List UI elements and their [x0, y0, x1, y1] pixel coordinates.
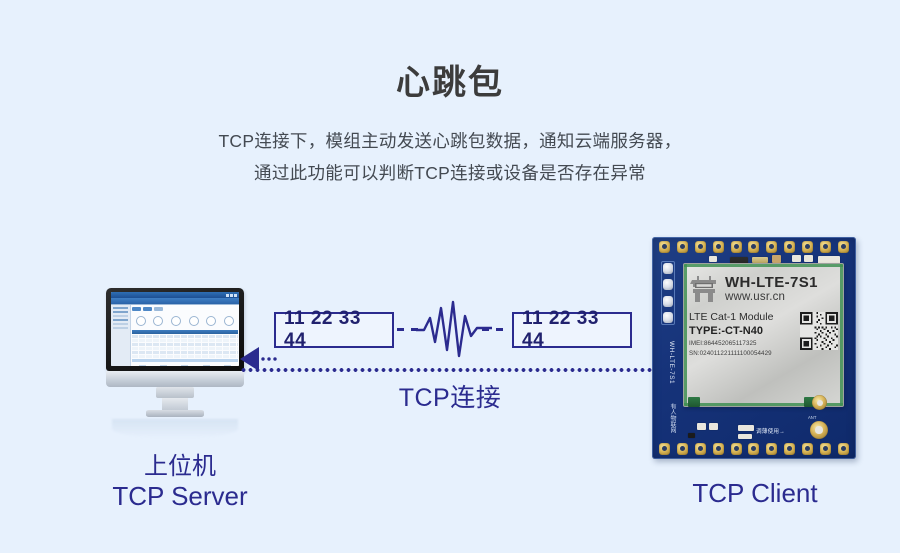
monitor-stand-top: [156, 387, 194, 398]
smd-resistor: [697, 423, 706, 430]
module-sn: SN:024011221111100054429: [689, 350, 800, 357]
shield-edge-left: [684, 264, 687, 406]
tcp-client-caption: TCP Client: [640, 478, 870, 509]
sidebar-row: [113, 315, 128, 317]
pcb-pads-left: [661, 261, 675, 325]
pcb-pad: [784, 241, 795, 253]
label-text-block: LTE Cat-1 Module TYPE:-CT-N40 IMEI:86445…: [689, 311, 800, 357]
pcb-pad: [663, 312, 673, 323]
pcb-pad: [677, 443, 688, 455]
sidebar-row: [113, 319, 128, 321]
pcb-pad: [659, 443, 670, 455]
gauge-dial: [136, 316, 146, 326]
tcp-connection-label: TCP连接: [240, 378, 660, 414]
pcb-pad: [820, 241, 831, 253]
status-cell: [160, 365, 167, 366]
pcb-pad: [663, 263, 673, 274]
toolbar-button: [143, 307, 152, 311]
tcp-flow-diagram: 11 22 33 44 11 22 33 44 TCP连接: [240, 300, 660, 420]
subtitle-line-2: 通过此功能可以判断TCP连接或设备是否存在异常: [0, 157, 900, 189]
sidebar-row: [113, 323, 128, 325]
table-row: [132, 347, 238, 350]
window-close-icon: [234, 294, 237, 297]
sidebar-row: [113, 311, 128, 313]
table-row-selected: [132, 359, 238, 362]
toolbar-button: [154, 307, 163, 311]
app-main-panel: [131, 305, 239, 366]
pcb-pad: [695, 443, 706, 455]
tcp-server-caption: 上位机 TCP Server: [60, 452, 300, 513]
brand-text: WH-LTE-7S1 www.usr.cn: [725, 275, 818, 303]
header: 心跳包 TCP连接下，模组主动发送心跳包数据，通知云端服务器， 通过此功能可以判…: [0, 0, 900, 189]
pcb-pad: [820, 443, 831, 455]
module-shield-label: WH-LTE-7S1 www.usr.cn LTE Cat-1 Module T…: [683, 263, 844, 407]
sidebar-row: [113, 327, 128, 329]
monitor-stand-column: [162, 398, 188, 410]
table-row: [132, 355, 238, 358]
pcb-pad: [731, 241, 742, 253]
pcb-pad: [766, 443, 777, 455]
pcb-pad: [748, 241, 759, 253]
module-imei: IMEI:864452065117325: [689, 340, 800, 347]
packet-box-right: 11 22 33 44: [512, 312, 632, 348]
pcb-silkscreen-brand-cn: 有人物联网: [668, 403, 677, 433]
pcb-pads-bottom: [659, 443, 849, 455]
dotted-connection-line-icon: [240, 368, 660, 372]
subtitle-line-1: TCP连接下，模组主动发送心跳包数据，通知云端服务器，: [0, 125, 900, 157]
data-grid-header: [132, 330, 238, 334]
status-cell: [224, 365, 231, 366]
packet-box-left: 11 22 33 44: [274, 312, 394, 348]
window-maximize-icon: [230, 294, 233, 297]
app-sidebar: [111, 305, 131, 366]
pcb-pad: [713, 241, 724, 253]
pcb-pad: [659, 241, 670, 253]
tcp-server-caption-en: TCP Server: [60, 481, 300, 513]
pcb-pad: [802, 443, 813, 455]
shield-label-content: WH-LTE-7S1 www.usr.cn LTE Cat-1 Module T…: [689, 269, 838, 401]
pcb-pad: [731, 443, 742, 455]
table-row: [132, 335, 238, 338]
smd-resistor: [709, 423, 718, 430]
smd-resistor: [804, 255, 813, 262]
gauge-row: [132, 313, 238, 329]
pcb-silkscreen-note-cn: 调薄使用→: [756, 427, 785, 435]
monitor-chin: [106, 371, 244, 387]
monitor-screen: [111, 292, 239, 366]
smd-resistor: [738, 434, 752, 439]
qr-code-icon: [800, 312, 838, 350]
gauge-dial: [206, 316, 216, 326]
smd-capacitor: [688, 433, 695, 438]
status-cell: [139, 365, 146, 366]
antenna-connector-icon: [810, 421, 828, 439]
gauge-dial: [189, 316, 199, 326]
page-title: 心跳包: [0, 62, 900, 105]
pcb-pads-top: [659, 241, 849, 253]
pcb-pad: [838, 241, 849, 253]
module-model-name: WH-LTE-7S1: [725, 275, 818, 291]
pcb-pad: [663, 279, 673, 290]
heartbeat-waveform-icon: [416, 298, 492, 362]
pcb-pad: [748, 443, 759, 455]
module-model-code: TYPE:-CT-N40: [689, 325, 800, 337]
pcb-pad: [838, 443, 849, 455]
data-grid-rows: [132, 335, 238, 362]
pcb-pad: [663, 296, 673, 307]
sidebar-row: [113, 307, 128, 309]
app-toolbar: [132, 307, 238, 311]
page-subtitle: TCP连接下，模组主动发送心跳包数据，通知云端服务器， 通过此功能可以判断TCP…: [0, 125, 900, 190]
status-cell: [203, 365, 210, 366]
usr-ding-logo-icon: [689, 275, 719, 303]
module-website: www.usr.cn: [725, 291, 818, 303]
desktop-monitor-icon: [96, 288, 256, 438]
label-detail-rows: LTE Cat-1 Module TYPE:-CT-N40 IMEI:86445…: [689, 311, 838, 357]
table-row: [132, 351, 238, 354]
table-row: [132, 339, 238, 342]
pcb-pad: [766, 241, 777, 253]
shield-solder-tab: [688, 397, 700, 407]
shield-edge-top: [684, 264, 843, 267]
toolbar-button: [132, 307, 141, 311]
smd-diode: [772, 255, 781, 263]
brand-row: WH-LTE-7S1 www.usr.cn: [689, 275, 838, 303]
app-statusbar: [132, 363, 238, 366]
monitor-bezel: [106, 288, 244, 371]
gauge-dial: [171, 316, 181, 326]
pcb-pad: [784, 443, 795, 455]
monitor-reflection: [112, 419, 238, 438]
pcb-pad: [802, 241, 813, 253]
smd-capacitor: [709, 256, 717, 262]
table-row: [132, 343, 238, 346]
arrow-dotted-tail-icon: [260, 357, 278, 361]
pcb-pad: [677, 241, 688, 253]
pcb-pad: [695, 241, 706, 253]
pcb-pad: [713, 443, 724, 455]
status-cell: [181, 365, 188, 366]
app-menubar: [111, 298, 239, 305]
app-body: [111, 305, 239, 366]
shield-edge-right: [840, 264, 843, 406]
gauge-dial: [224, 316, 234, 326]
lte-module-image: WH-LTE-7S1 有人物联网 R21 C2: [652, 237, 856, 459]
window-minimize-icon: [226, 294, 229, 297]
monitor-base: [146, 410, 204, 417]
pcb-silkscreen-ref: ANT: [808, 415, 816, 420]
pcb-silkscreen-model: WH-LTE-7S1: [668, 341, 675, 384]
smd-resistor: [738, 425, 754, 431]
gauge-dial: [153, 316, 163, 326]
antenna-connector-icon: [812, 395, 827, 410]
dashed-segment-right-icon: [482, 328, 510, 331]
smd-resistor: [792, 255, 801, 262]
module-type-line: LTE Cat-1 Module: [689, 311, 800, 323]
tcp-server-caption-cn: 上位机: [60, 452, 300, 481]
